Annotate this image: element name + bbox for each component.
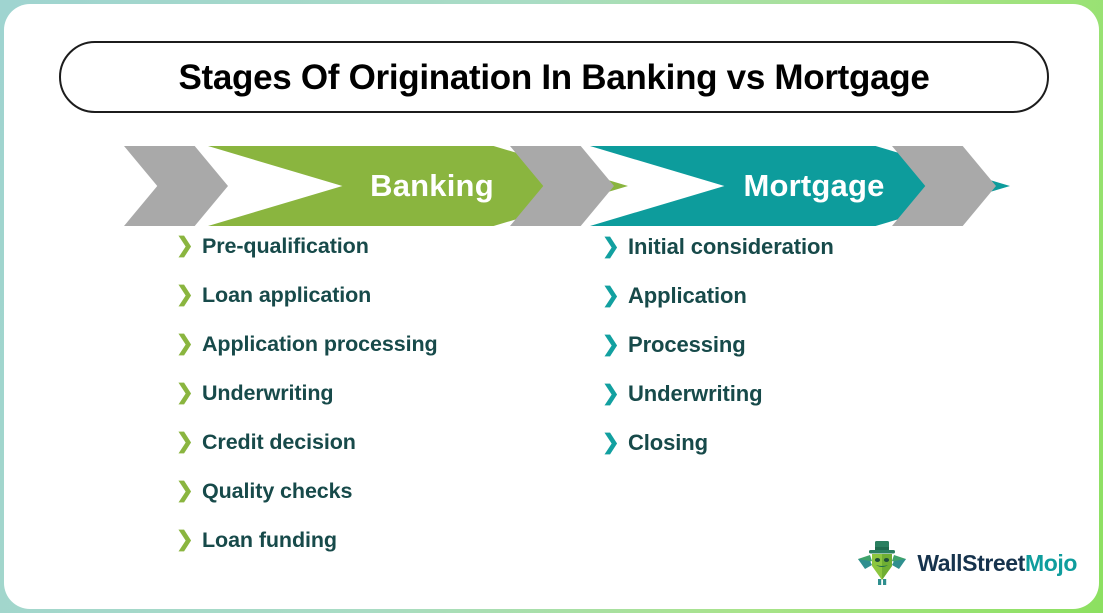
infographic-root: Stages Of Origination In Banking vs Mort… <box>0 0 1103 613</box>
chevron-right-bullet-icon: ❯ <box>176 284 202 305</box>
list-item: ❯ Application processing <box>176 334 438 383</box>
list-item: ❯ Underwriting <box>176 383 438 432</box>
list-item: ❯ Quality checks <box>176 481 438 530</box>
chevron-right-bullet-icon: ❯ <box>176 431 202 452</box>
infographic-card: Stages Of Origination In Banking vs Mort… <box>4 4 1099 609</box>
chevron-right-bullet-icon: ❯ <box>602 285 628 306</box>
chevron-right-bullet-icon: ❯ <box>176 480 202 501</box>
chevron-right-bullet-icon: ❯ <box>176 235 202 256</box>
list-item: ❯ Application <box>602 285 834 334</box>
list-item-label: Quality checks <box>202 481 352 503</box>
list-item-label: Credit decision <box>202 432 356 454</box>
list-item-label: Application <box>628 285 747 307</box>
list-item: ❯ Pre-qualification <box>176 236 438 285</box>
banking-stage-list: ❯ Pre-qualification ❯ Loan application ❯… <box>176 236 438 579</box>
list-item-label: Closing <box>628 432 708 454</box>
chevron-right-bullet-icon: ❯ <box>176 529 202 550</box>
list-item-label: Underwriting <box>202 383 333 405</box>
list-item-label: Application processing <box>202 334 438 356</box>
page-title: Stages Of Origination In Banking vs Mort… <box>178 60 929 95</box>
list-item-label: Processing <box>628 334 746 356</box>
list-item: ❯ Initial consideration <box>602 236 834 285</box>
chevron-right-bullet-icon: ❯ <box>176 382 202 403</box>
list-item: ❯ Loan funding <box>176 530 438 579</box>
wallstreetmojo-mascot-icon <box>856 539 908 587</box>
list-item: ❯ Processing <box>602 334 834 383</box>
chevron-banner: Banking Mortgage <box>124 146 984 226</box>
list-item: ❯ Underwriting <box>602 383 834 432</box>
stage-lists: ❯ Pre-qualification ❯ Loan application ❯… <box>4 236 1099 576</box>
list-item-label: Loan funding <box>202 530 337 552</box>
chevron-right-bullet-icon: ❯ <box>176 333 202 354</box>
chevron-right-bullet-icon: ❯ <box>602 236 628 257</box>
chevron-mortgage-label: Mortgage <box>743 168 884 204</box>
list-item-label: Initial consideration <box>628 236 834 258</box>
list-item: ❯ Loan application <box>176 285 438 334</box>
chevron-banking-label: Banking <box>370 168 494 204</box>
chevron-right-bullet-icon: ❯ <box>602 432 628 453</box>
mortgage-stage-list: ❯ Initial consideration ❯ Application ❯ … <box>602 236 834 481</box>
logo-word-primary: WallStreet <box>917 550 1025 576</box>
list-item-label: Underwriting <box>628 383 762 405</box>
logo-word-accent: Mojo <box>1025 550 1077 576</box>
brand-logo[interactable]: WallStreetMojo <box>856 539 1077 587</box>
chevron-right-bullet-icon: ❯ <box>602 334 628 355</box>
page-title-pill: Stages Of Origination In Banking vs Mort… <box>59 41 1049 113</box>
list-item-label: Pre-qualification <box>202 236 369 258</box>
list-item: ❯ Closing <box>602 432 834 481</box>
chevron-arrow-gray-leading <box>124 146 228 226</box>
chevron-right-bullet-icon: ❯ <box>602 383 628 404</box>
logo-wordmark: WallStreetMojo <box>917 552 1077 575</box>
list-item: ❯ Credit decision <box>176 432 438 481</box>
list-item-label: Loan application <box>202 285 371 307</box>
